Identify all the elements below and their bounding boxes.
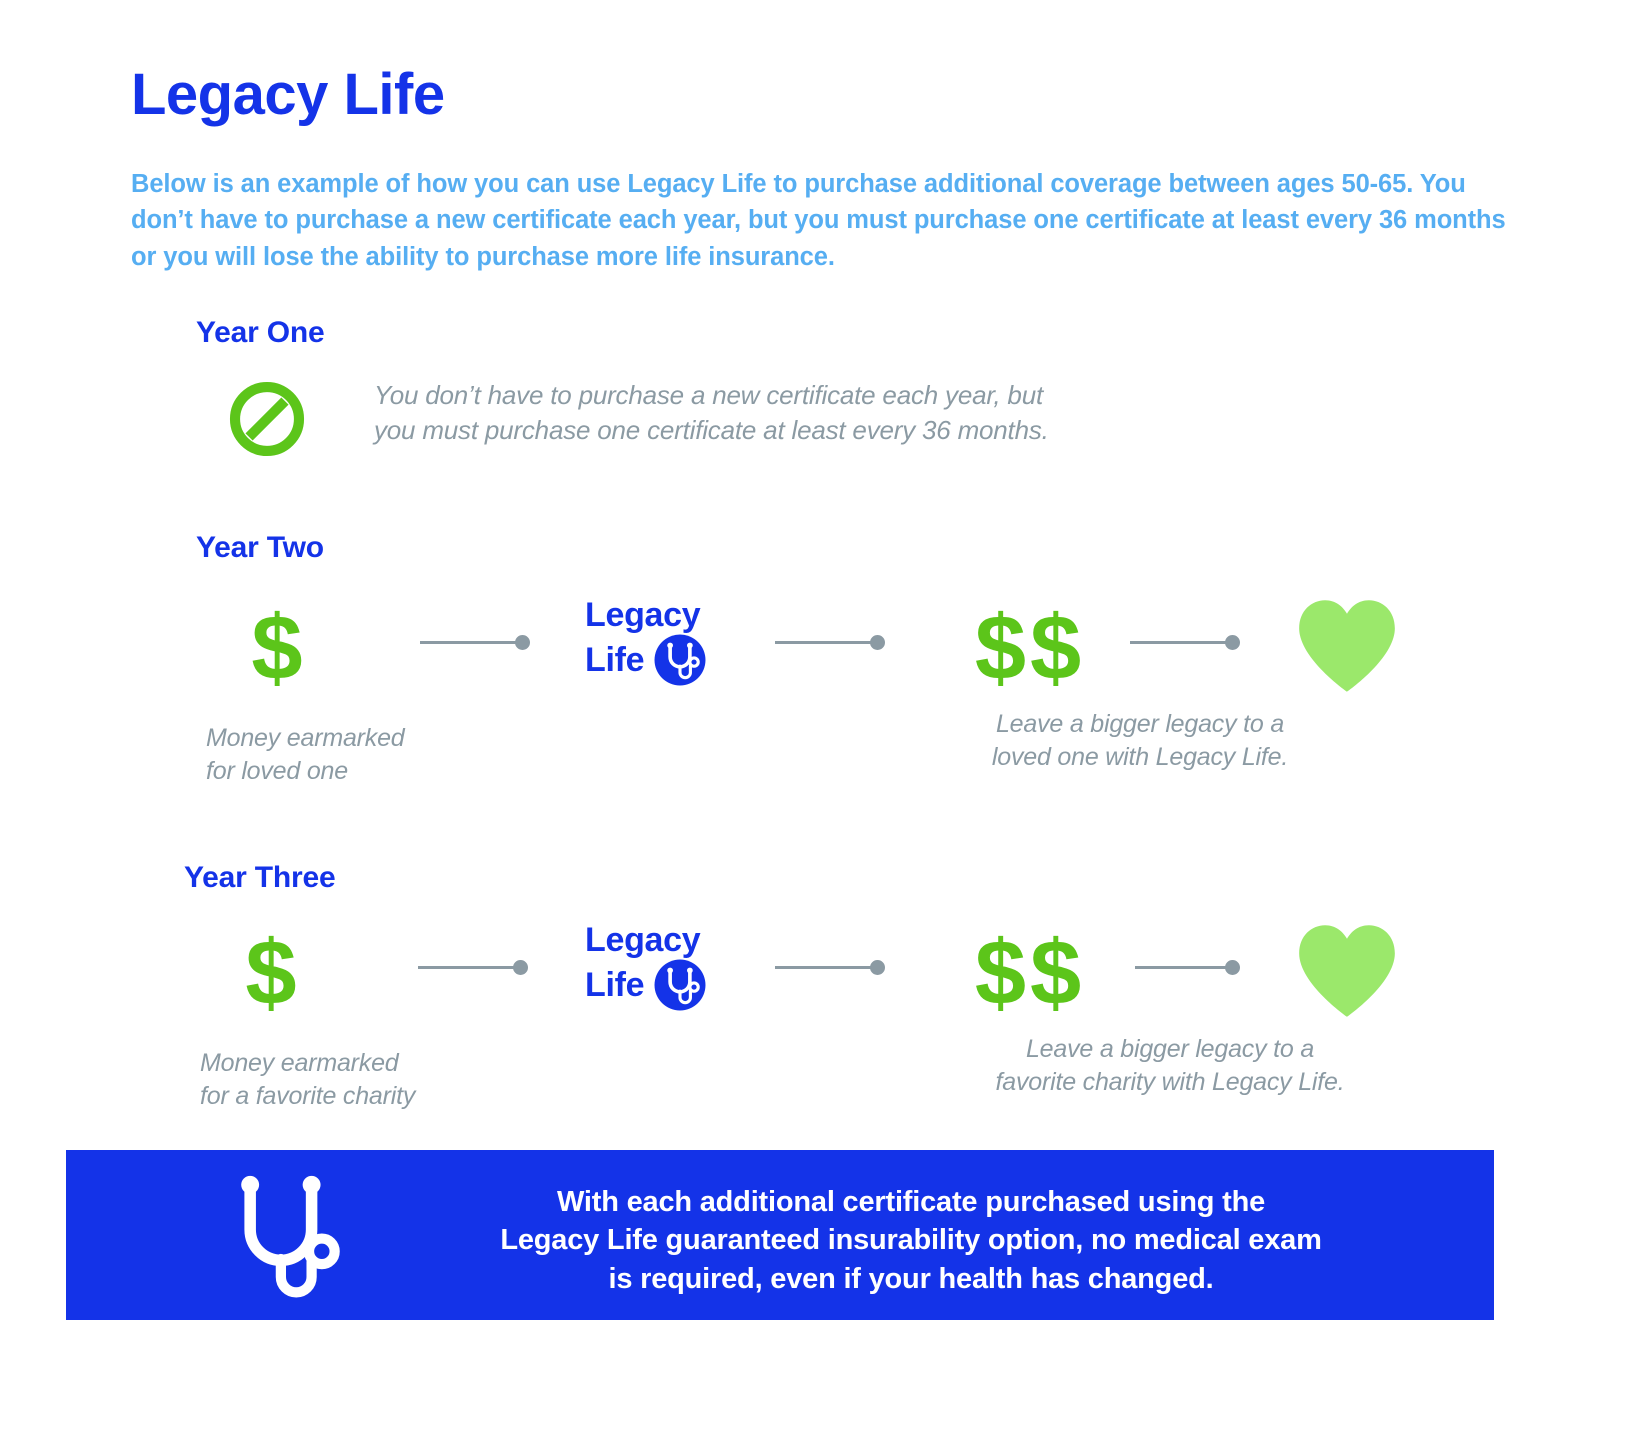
banner-line-3: is required, even if your health has cha…	[366, 1260, 1456, 1298]
connector-line-2	[775, 634, 885, 650]
banner-line-1: With each additional certificate purchas…	[366, 1183, 1456, 1221]
year-two-result-node: $$	[930, 602, 1130, 694]
stethoscope-badge-icon	[654, 959, 706, 1011]
connector-line-3	[1135, 959, 1240, 975]
year-two-flow: $ Money earmarked for loved one Legacy L…	[0, 580, 1650, 810]
year-three-result-node: $$	[930, 927, 1130, 1019]
result-caption: Leave a bigger legacy to a favorite char…	[925, 1033, 1415, 1098]
caption-line-1: Money earmarked	[200, 1049, 398, 1077]
caption-line-2: for loved one	[206, 757, 348, 785]
year-one-line-1: You don’t have to purchase a new certifi…	[374, 380, 1043, 410]
connector-dot	[515, 635, 530, 650]
connector-line-1	[420, 634, 530, 650]
connector-dot	[1225, 960, 1240, 975]
result-caption: Leave a bigger legacy to a loved one wit…	[925, 708, 1355, 773]
banner-line-2: Legacy Life guaranteed insurability opti…	[366, 1221, 1456, 1259]
connector-segment	[1135, 966, 1226, 969]
year-one-heading: Year One	[196, 316, 324, 350]
connector-segment	[418, 966, 514, 969]
year-one-line-2: you must purchase one certificate at lea…	[374, 415, 1049, 445]
prohibition-icon	[228, 380, 306, 458]
caption-line-2: loved one with Legacy Life.	[992, 743, 1288, 771]
connector-dot	[870, 635, 885, 650]
connector-dot	[870, 960, 885, 975]
logo-line-2-row: Life	[585, 959, 706, 1011]
caption-line-1: Leave a bigger legacy to a	[996, 710, 1284, 738]
connector-segment	[775, 966, 871, 969]
logo-line-2: Life	[585, 641, 644, 679]
connector-line-1	[418, 959, 528, 975]
footer-banner: With each additional certificate purchas…	[66, 1150, 1494, 1320]
dollar-symbol-single: $	[206, 602, 346, 694]
connector-segment	[1130, 641, 1226, 644]
connector-line-2	[775, 959, 885, 975]
page-title: Legacy Life	[131, 66, 445, 124]
year-three-start-node: $ Money earmarked for a favorite charity	[200, 927, 340, 1112]
dollar-symbol-double: $$	[930, 602, 1130, 694]
stethoscope-badge-icon	[654, 634, 706, 686]
year-two-result-caption: Leave a bigger legacy to a loved one wit…	[925, 708, 1355, 773]
year-three-logo: Legacy Life	[585, 921, 706, 1011]
connector-dot	[513, 960, 528, 975]
caption-line-2: favorite charity with Legacy Life.	[996, 1068, 1345, 1096]
dollar-symbol-single: $	[200, 927, 340, 1019]
connector-dot	[1225, 635, 1240, 650]
year-two-heading: Year Two	[196, 531, 324, 565]
logo-line-2-row: Life	[585, 634, 706, 686]
year-one-description: You don’t have to purchase a new certifi…	[374, 378, 1154, 447]
logo-line-1: Legacy	[585, 921, 706, 959]
heart-icon	[1295, 598, 1399, 694]
infographic-page: Legacy Life Below is an example of how y…	[0, 0, 1650, 1435]
caption-line-2: for a favorite charity	[200, 1082, 415, 1110]
connector-segment	[775, 641, 871, 644]
caption-line-1: Leave a bigger legacy to a	[1026, 1035, 1314, 1063]
logo-line-1: Legacy	[585, 596, 706, 634]
year-three-heading: Year Three	[184, 861, 335, 895]
logo-line-2: Life	[585, 966, 644, 1004]
caption-line-1: Money earmarked	[206, 724, 404, 752]
year-two-start-caption: Money earmarked for loved one	[206, 722, 346, 787]
banner-message: With each additional certificate purchas…	[366, 1183, 1456, 1298]
connector-segment	[420, 641, 516, 644]
dollar-symbol-double: $$	[930, 927, 1130, 1019]
intro-paragraph: Below is an example of how you can use L…	[131, 166, 1511, 275]
year-two-logo: Legacy Life	[585, 596, 706, 686]
year-two-start-node: $ Money earmarked for loved one	[206, 602, 346, 787]
stethoscope-icon	[221, 1172, 351, 1300]
heart-icon	[1295, 923, 1399, 1019]
connector-line-3	[1130, 634, 1240, 650]
year-three-result-caption: Leave a bigger legacy to a favorite char…	[925, 1033, 1415, 1098]
year-three-start-caption: Money earmarked for a favorite charity	[200, 1047, 340, 1112]
year-three-flow: $ Money earmarked for a favorite charity…	[0, 905, 1650, 1135]
